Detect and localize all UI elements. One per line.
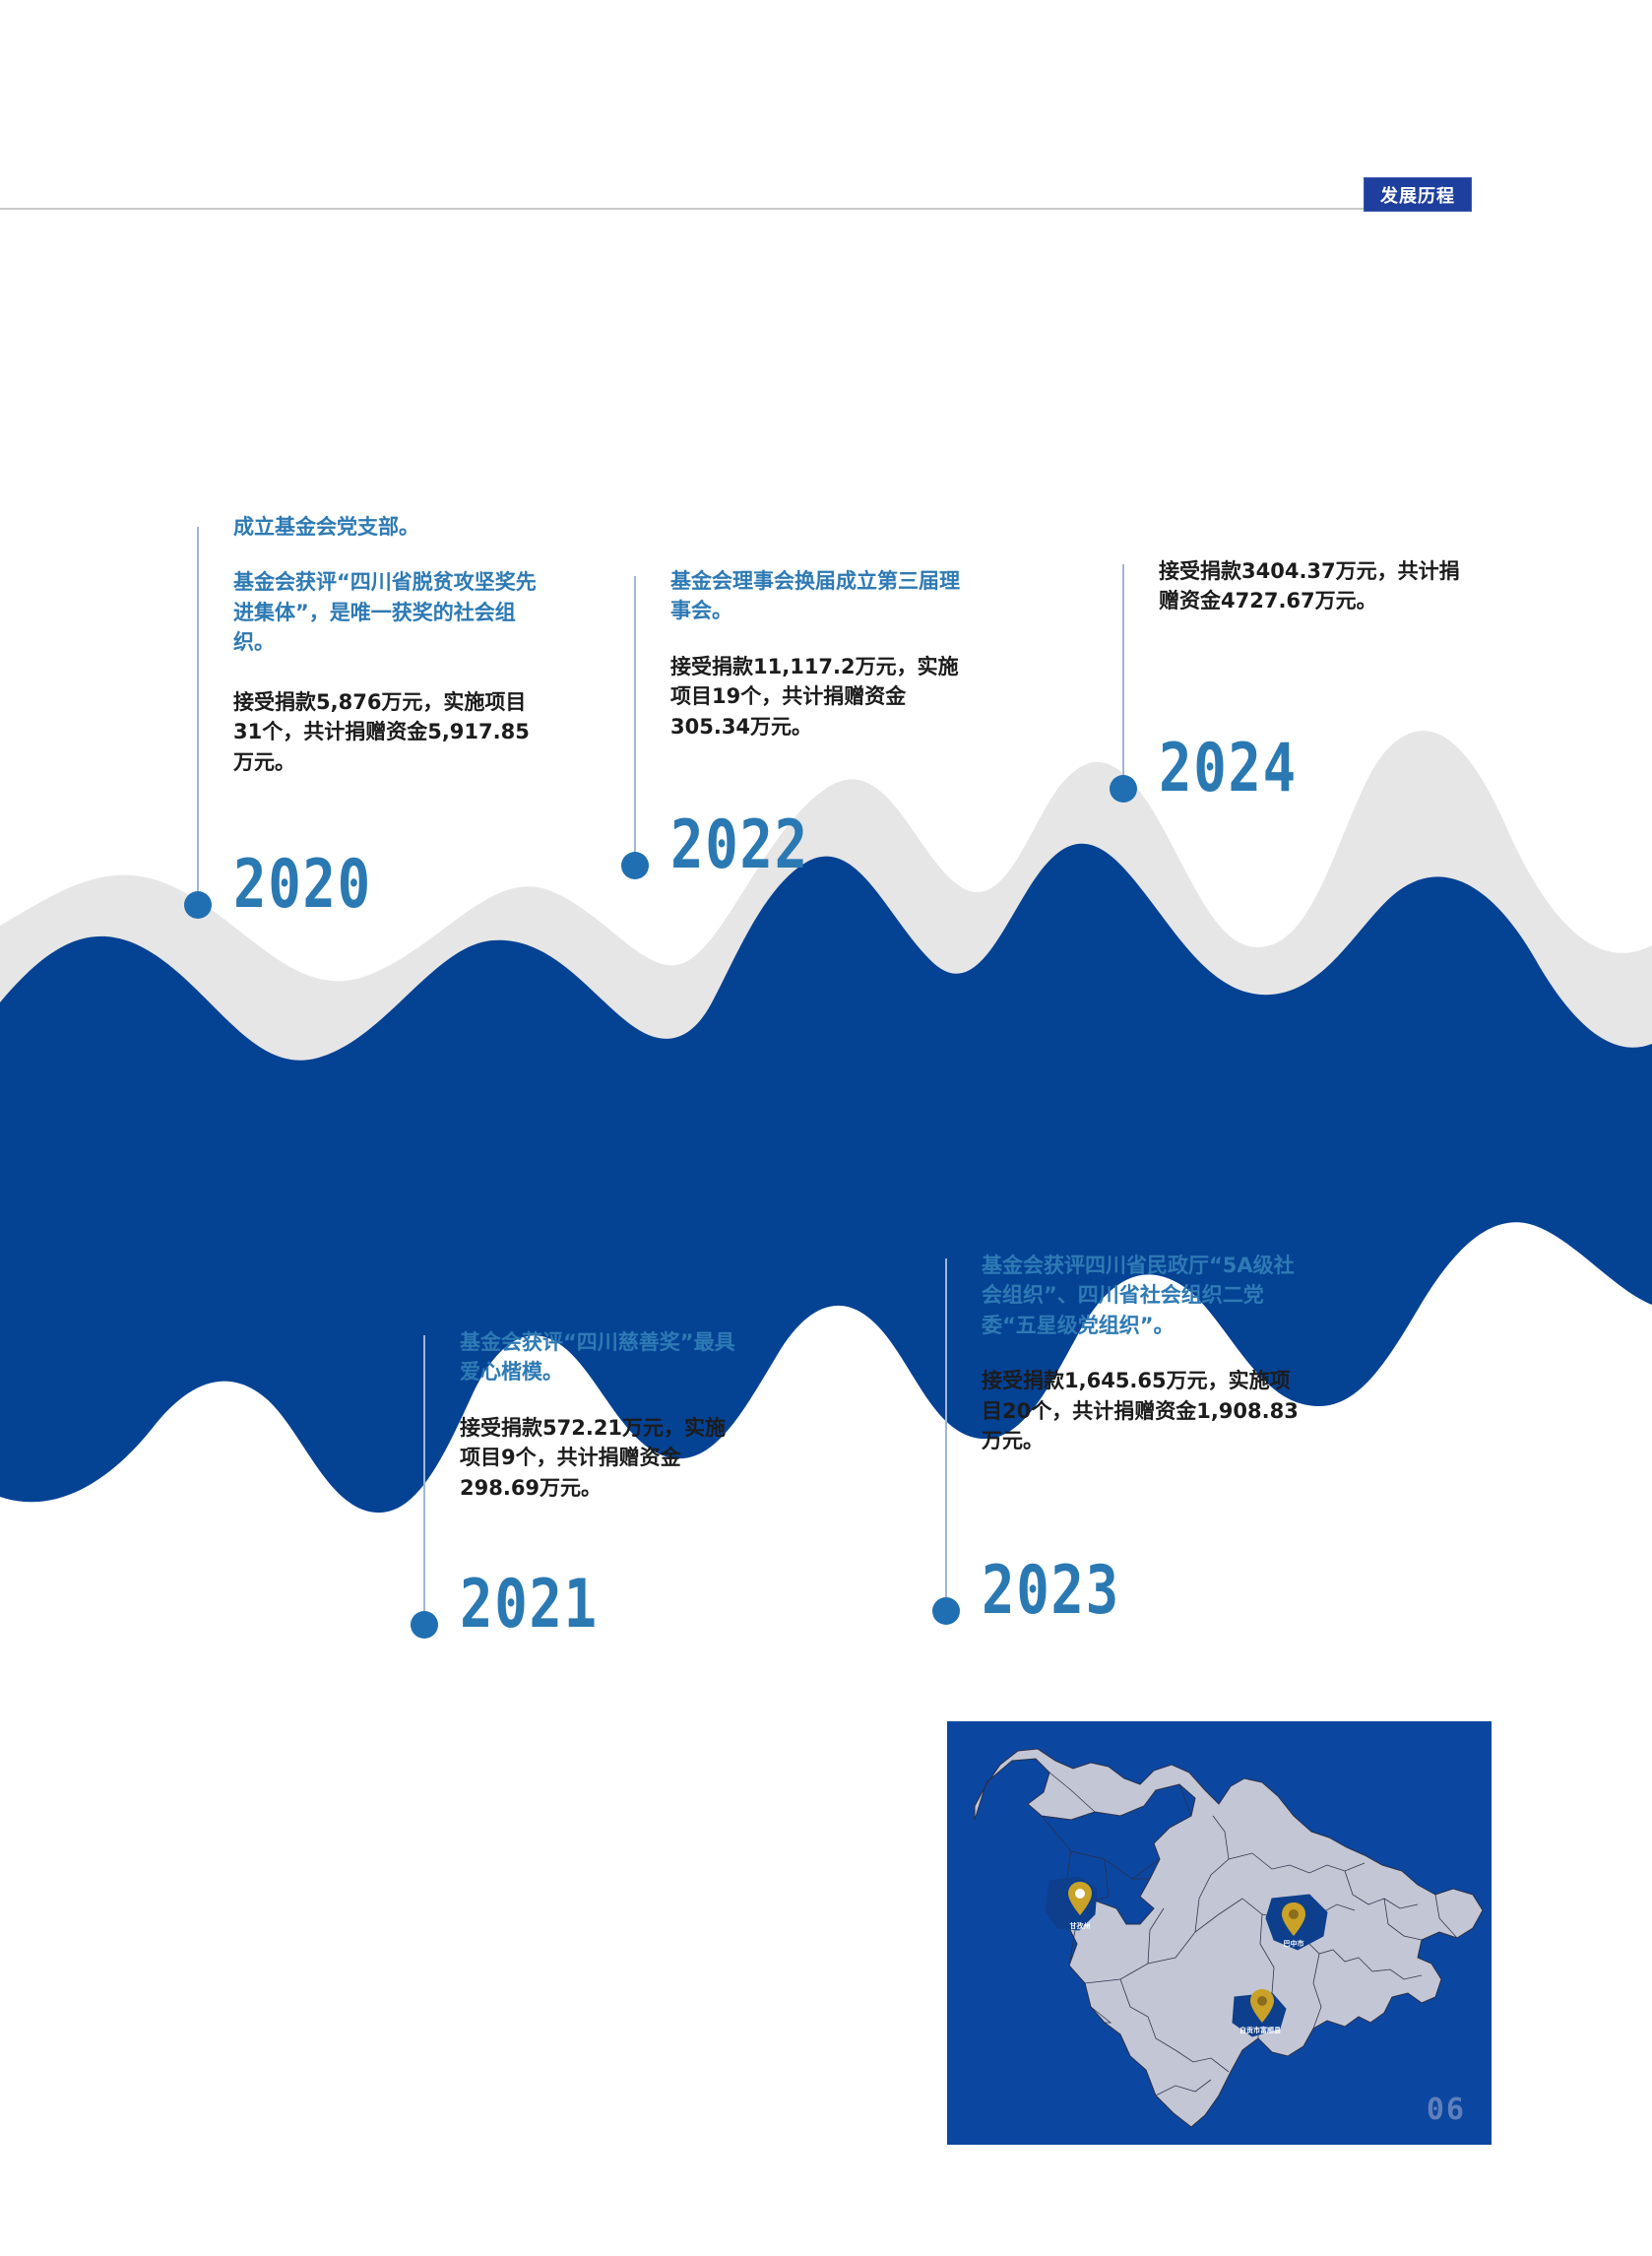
wave-gray-shape: [0, 731, 1652, 1221]
sichuan-map-svg: 甘孜州 巴中市 自贡市富顺县: [947, 1721, 1492, 2145]
map-pin-label-2: 巴中市: [1284, 1939, 1304, 1948]
entry-body: 接受捐款5,876万元，实施项目31个，共计捐赠资金5,917.85万元。: [233, 687, 540, 777]
entry-body: 接受捐款1,645.65万元，实施项目20个，共计捐赠资金1,908.83万元。: [982, 1366, 1299, 1455]
wave-blue-shape: [0, 844, 1652, 1513]
year-label-2023: 2023: [982, 1558, 1120, 1625]
entry-heading-1: 基金会获评“四川慈善奖”最具爱心楷模。: [460, 1327, 745, 1387]
connector-dot: [184, 891, 212, 919]
year-label-2022: 2022: [670, 812, 809, 879]
map-land-shape: [975, 1749, 1483, 2127]
year-label-2020: 2020: [233, 852, 372, 919]
connector-line: [423, 1335, 425, 1621]
entry-heading-1: 基金会获评四川省民政厅“5A级社会组织”、四川省社会组织二党委“五星级党组织”。: [982, 1251, 1299, 1340]
connector-dot: [621, 852, 649, 879]
connector-line: [197, 527, 199, 901]
entry-text-block: 基金会获评“四川慈善奖”最具爱心楷模。 接受捐款572.21万元，实施项目9个，…: [460, 1327, 745, 1503]
entry-body: 接受捐款572.21万元，实施项目9个，共计捐赠资金298.69万元。: [460, 1413, 745, 1503]
entry-heading-1: 基金会理事会换届成立第三届理事会。: [670, 566, 961, 626]
section-tag-label: 发展历程: [1380, 182, 1455, 208]
entry-text-block: 成立基金会党支部。 基金会获评“四川省脱贫攻坚奖先进集体”，是唯一获奖的社会组织…: [233, 512, 540, 777]
entry-body: 接受捐款3404.37万元，共计捐赠资金4727.67万元。: [1159, 556, 1472, 616]
connector-dot: [1110, 775, 1137, 803]
connector-line: [634, 576, 636, 862]
entry-heading-2: 基金会获评“四川省脱贫攻坚奖先进集体”，是唯一获奖的社会组织。: [233, 567, 540, 657]
entry-text-block: 基金会理事会换届成立第三届理事会。 接受捐款11,117.2万元，实施项目19个…: [670, 566, 961, 741]
year-label-2024: 2024: [1159, 736, 1298, 803]
connector-dot: [411, 1611, 438, 1639]
connector-dot: [932, 1597, 960, 1625]
section-tag: 发展历程: [1364, 177, 1472, 212]
entry-text-block: 接受捐款3404.37万元，共计捐赠资金4727.67万元。: [1159, 556, 1472, 616]
map-pin-label-3: 自贡市富顺县: [1239, 2026, 1281, 2034]
connector-line: [1122, 564, 1124, 786]
connector-line: [945, 1258, 947, 1611]
entry-heading-1: 成立基金会党支部。: [233, 512, 540, 542]
map-pin-label-1: 甘孜州: [1070, 1921, 1091, 1930]
page-number: 06: [1427, 2093, 1466, 2127]
sichuan-map-card: 甘孜州 巴中市 自贡市富顺县 06: [947, 1721, 1492, 2145]
entry-body: 接受捐款11,117.2万元，实施项目19个，共计捐赠资金305.34万元。: [670, 652, 961, 741]
year-label-2021: 2021: [460, 1572, 599, 1639]
header-divider-line: [0, 208, 1365, 210]
entry-text-block: 基金会获评四川省民政厅“5A级社会组织”、四川省社会组织二党委“五星级党组织”。…: [982, 1251, 1299, 1456]
